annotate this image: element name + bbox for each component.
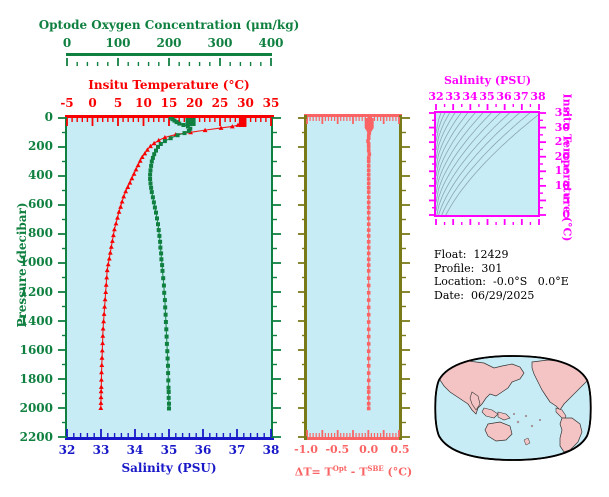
delta-t-right-axis: [399, 115, 402, 440]
metadata-profile-value: 301: [481, 262, 502, 275]
pressure-tick-labels: 0200400600800100012001400160018002000220…: [0, 0, 60, 497]
ts-temperature-axis-title: Insitu Temperature (°C): [561, 88, 574, 248]
metadata-block: Float: 12429 Profile: 301 Location: -0.0…: [434, 248, 569, 302]
delta-t-title-sup-sbe: SBE: [367, 464, 383, 473]
ts-diagram-plot-area: [434, 111, 540, 217]
axis-tick-label: 200: [147, 36, 191, 50]
axis-tick-label: 400: [249, 36, 293, 50]
oxygen-tick-labels: 0100200300400: [0, 36, 609, 52]
metadata-profile-row: Profile: 301: [434, 262, 569, 276]
delta-t-bottom-axis: [304, 437, 402, 440]
metadata-float-label: Float:: [434, 248, 466, 261]
ts-salinity-tick-labels: 32333435363738: [420, 90, 560, 104]
main-left-axis-pressure: [65, 117, 67, 438]
metadata-date-value: 06/29/2025: [471, 289, 534, 302]
metadata-location-value: -0.0°S 0.0°E: [493, 275, 569, 288]
pressure-tick-label: 2200: [0, 430, 53, 444]
metadata-date-label: Date:: [434, 289, 464, 302]
delta-t-top-axis: [304, 114, 402, 117]
main-top-axis-temperature: [65, 115, 274, 118]
oxygen-axis-ticks: [66, 56, 273, 66]
delta-t-tick-label: 0.5: [380, 443, 420, 456]
axis-tick-label: 35: [249, 96, 293, 110]
delta-t-title-sup-opt: Opt: [333, 464, 347, 473]
metadata-float-value: 12429: [473, 248, 508, 261]
metadata-location-label: Location:: [434, 275, 486, 288]
delta-t-axis-title: ΔT= TOpt - TSBE (°C): [286, 464, 421, 479]
pressure-tick-label: 0: [0, 110, 53, 124]
delta-t-title-tail: (°C): [384, 466, 413, 479]
metadata-location-row: Location: -0.0°S 0.0°E: [434, 275, 569, 289]
main-right-axis-pressure: [271, 117, 273, 438]
ts-bottom-ticks: [434, 217, 542, 225]
delta-t-title-lead: ΔT= T: [295, 466, 333, 479]
axis-tick-label: 300: [198, 36, 242, 50]
delta-t-tick-labels: -1.0-0.50.00.5: [302, 443, 452, 459]
metadata-date-row: Date: 06/29/2025: [434, 289, 569, 303]
main-profile-plot-area: [66, 117, 272, 437]
metadata-profile-label: Profile:: [434, 262, 474, 275]
metadata-float-row: Float: 12429: [434, 248, 569, 262]
ts-right-ticks: [540, 111, 548, 218]
main-bottom-axis-salinity: [65, 437, 274, 440]
delta-t-plot-area: [306, 117, 400, 437]
oxygen-axis-line: [66, 53, 272, 56]
ts-isopycnal-contours: [436, 113, 538, 215]
pressure-axis-title: Pressure (decibar): [15, 125, 29, 405]
delta-t-right-ticks: [401, 117, 411, 439]
pressure-axis-right-ticks: [272, 117, 283, 439]
delta-t-left-axis: [304, 115, 307, 440]
axis-tick-label: 100: [96, 36, 140, 50]
delta-t-title-mid: - T: [347, 466, 367, 479]
ts-salinity-tick-label: 38: [527, 90, 549, 103]
ts-salinity-axis-title: Salinity (PSU): [420, 74, 555, 87]
